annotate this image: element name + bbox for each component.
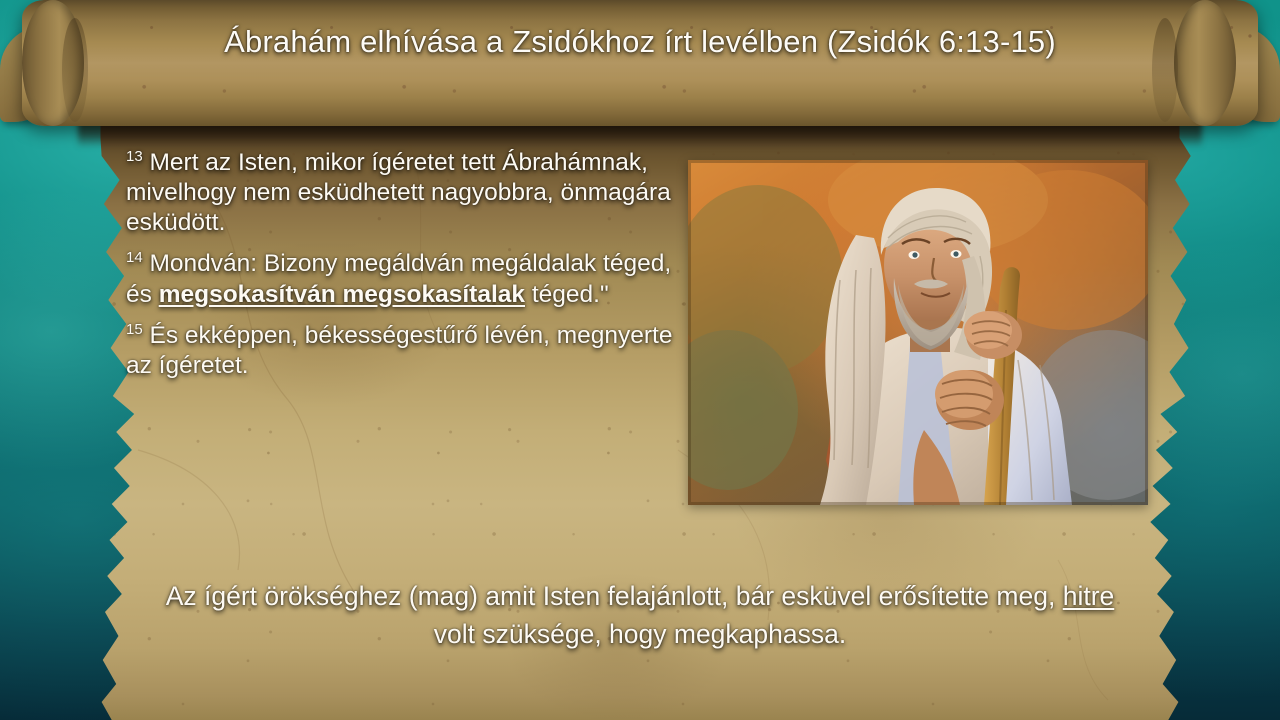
verse-block: 13 Mert az Isten, mikor ígéretet tett Áb… (126, 148, 686, 392)
verse-15: 15 És ekképpen, békességestűrő lévén, me… (126, 321, 686, 381)
scroll-roll-top (22, 0, 1258, 126)
verse-highlight: megsokasítván megsokasítalak (159, 281, 525, 308)
verse-text-tail: téged." (525, 281, 609, 308)
verse-text: És ekképpen, békességestűrő lévén, megny… (126, 322, 672, 379)
summary-underlined-word: hitre (1063, 581, 1115, 611)
roll-speckle-texture (22, 0, 1258, 126)
summary-after: volt szüksége, hogy megkaphassa. (434, 619, 846, 649)
verse-number: 14 (126, 249, 143, 266)
verse-text: Mert az Isten, mikor ígéretet tett Ábrah… (126, 149, 671, 236)
slide-canvas: Ábrahám elhívása a Zsidókhoz írt levélbe… (0, 0, 1280, 720)
verse-number: 13 (126, 148, 143, 165)
slide-title: Ábrahám elhívása a Zsidókhoz írt levélbe… (0, 24, 1280, 60)
summary-before: Az ígért örökséghez (mag) amit Isten fel… (166, 581, 1063, 611)
summary-text: Az ígért örökséghez (mag) amit Isten fel… (150, 578, 1130, 653)
verse-14: 14 Mondván: Bizony megáldván megáldalak … (126, 249, 686, 309)
verse-number: 15 (126, 320, 143, 337)
abraham-portrait-image (688, 160, 1148, 505)
verse-13: 13 Mert az Isten, mikor ígéretet tett Áb… (126, 148, 686, 238)
abraham-illustration (688, 160, 1148, 505)
scroll-roll-cap-right (1174, 0, 1236, 126)
